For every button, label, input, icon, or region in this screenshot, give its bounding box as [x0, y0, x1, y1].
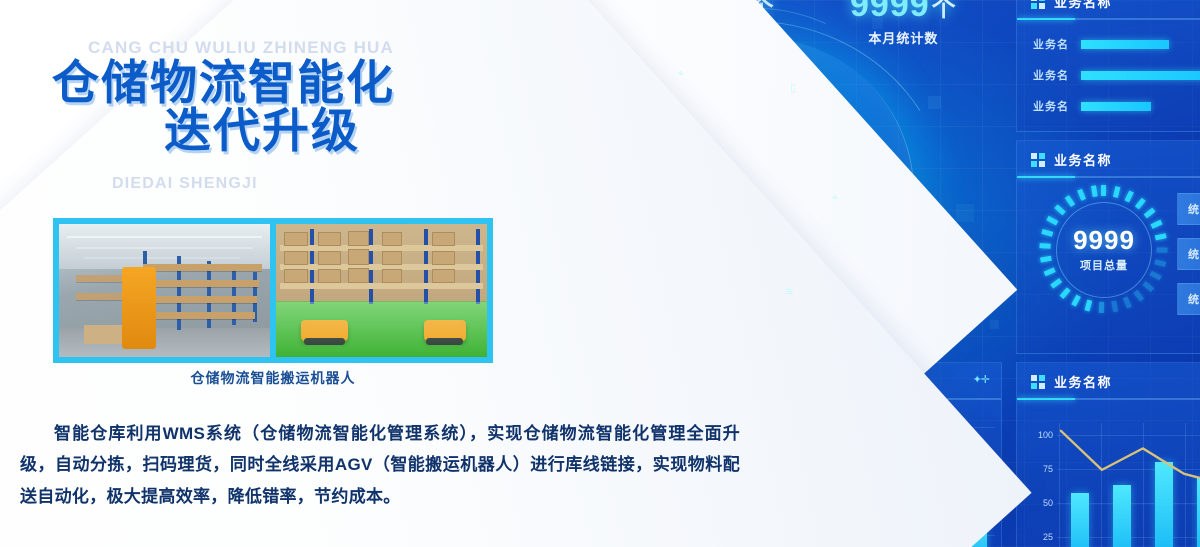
- grid-squares-icon: [1031, 153, 1045, 167]
- panel-project-total[interactable]: 业务名称: [1016, 140, 1200, 354]
- grid-squares-icon: [1031, 375, 1045, 389]
- row-label: 业务名: [1033, 98, 1069, 114]
- sparkle-icon: ✦✛: [973, 373, 989, 386]
- axis-tick-100: 100: [1025, 430, 1053, 440]
- stat-month-value: 9999个: [850, 0, 957, 25]
- row-label: 业务名: [1033, 36, 1069, 52]
- row-bar: [1081, 71, 1200, 80]
- panel-divider: [1017, 398, 1200, 400]
- stat-month-unit: 个: [932, 0, 957, 22]
- pinyin-top: CANG CHU WULIU ZHINENG HUA: [88, 38, 394, 58]
- left-content: CANG CHU WULIU ZHINENG HUA 仓储物流智能化 迭代升级 …: [0, 0, 770, 547]
- phone-icon: ▯: [780, 74, 806, 103]
- list-item[interactable]: 业务名: [1033, 36, 1200, 52]
- stat-month: 9999个 本月统计数: [850, 0, 957, 47]
- bar-chart-left: [817, 421, 995, 547]
- title-line-2: 迭代升级: [52, 108, 472, 156]
- panel-business-list[interactable]: 业务名称 业务名 业务名 业务名: [1016, 0, 1200, 132]
- grid-squares-icon: [1031, 0, 1045, 9]
- stat-person-list: 统计人 统计人 统计人: [1177, 193, 1200, 328]
- axis-tick-50: 50: [1025, 498, 1053, 508]
- grid-squares-icon: [793, 375, 807, 389]
- list-item[interactable]: 业务名: [1033, 98, 1200, 114]
- axis-tick-25: 25: [1025, 532, 1053, 542]
- list-item[interactable]: 统计人: [1177, 238, 1200, 270]
- panel-header: 业务名称: [1017, 141, 1200, 176]
- gauge-label: 项目总量: [1080, 257, 1128, 273]
- gauge-center: 9999 项目总量: [1056, 202, 1152, 298]
- list-item[interactable]: 统计人: [1177, 193, 1200, 225]
- panel-title: 业务名称: [816, 372, 874, 391]
- row-bar: [1081, 40, 1169, 49]
- panel-header: 业务名称 ✦✛: [779, 363, 1001, 398]
- row-label: 业务名: [1033, 67, 1069, 83]
- list-item[interactable]: 统计人: [1177, 283, 1200, 315]
- panel-divider: [779, 398, 1001, 400]
- stat-month-caption: 本月统计数: [850, 28, 957, 47]
- page-title: 仓储物流智能化 迭代升级: [52, 60, 472, 156]
- title-line-1: 仓储物流智能化: [52, 56, 395, 111]
- photo-frame: [53, 218, 493, 363]
- photo-caption: 仓储物流智能搬运机器人: [53, 368, 493, 388]
- panel-title: 业务名称: [1054, 0, 1112, 11]
- photo-warehouse-forklift: [59, 224, 270, 357]
- body-paragraph: 智能仓库利用WMS系统（仓储物流智能化管理系统），实现仓储物流智能化管理全面升级…: [20, 418, 740, 512]
- panel-divider: [1017, 18, 1200, 20]
- panel-chart-left[interactable]: 业务名称 ✦✛: [778, 362, 1002, 547]
- decor-square: [990, 320, 999, 329]
- gauge-ring: 9999 项目总量: [1039, 185, 1167, 313]
- panel-divider: [1017, 176, 1200, 178]
- axis-tick-75: 75: [1025, 464, 1053, 474]
- location-pin-icon: ⌖: [822, 184, 848, 213]
- panel-header: 业务名称: [1017, 0, 1200, 18]
- panel-chart-right[interactable]: 业务名称 100 75 50 25: [1016, 362, 1200, 547]
- banner-root: ⌖ ▯ ⌖ ≋ ☁ ◇ ▢ 8888个 本周统计数 9999个 本月统计数 业务…: [0, 0, 1200, 547]
- list-item[interactable]: 业务名: [1033, 67, 1200, 83]
- pinyin-bottom: DIEDAI SHENGJI: [112, 175, 258, 193]
- photo-agv-robots: [276, 224, 487, 357]
- panel-title: 业务名称: [1054, 150, 1112, 169]
- gauge-value: 9999: [1073, 227, 1135, 253]
- business-rows: 业务名 业务名 业务名: [1017, 20, 1200, 132]
- wifi-icon: ≋: [776, 278, 802, 307]
- panel-header: 业务名称: [1017, 363, 1200, 398]
- panel-title: 业务名称: [1054, 372, 1112, 391]
- combo-chart-right: 100 75 50 25: [1057, 423, 1200, 547]
- trend-line: [1057, 423, 1200, 547]
- row-bar: [1081, 102, 1151, 111]
